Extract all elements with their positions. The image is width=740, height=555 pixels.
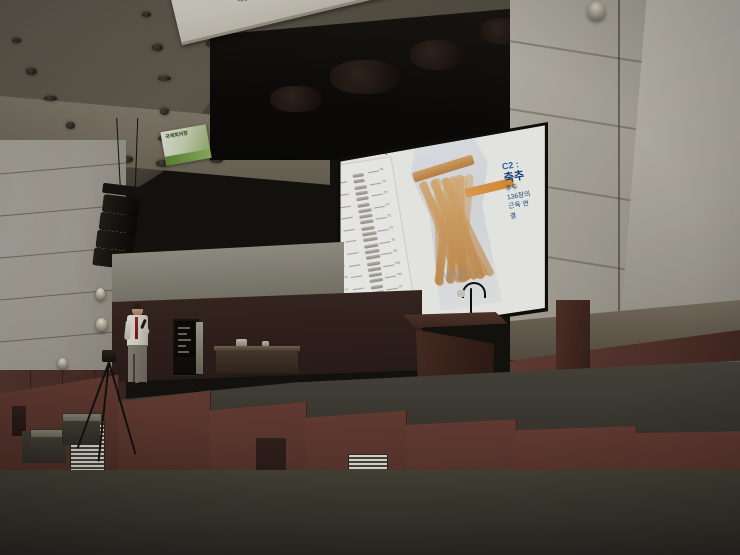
spine-label: C1 xyxy=(380,167,384,171)
vertebra xyxy=(367,260,381,266)
spine-label: C4 xyxy=(332,194,334,198)
ceiling-spot-light xyxy=(588,2,605,20)
downlight xyxy=(142,12,151,17)
ceiling-rigging xyxy=(330,60,400,94)
vertebra xyxy=(353,179,365,184)
vertebra xyxy=(361,225,375,231)
vertebra xyxy=(359,214,373,219)
downlight xyxy=(158,76,171,81)
spine-label: T2 xyxy=(387,214,391,218)
spine-label: T12 xyxy=(397,273,402,277)
ceiling-rigging xyxy=(270,86,322,112)
spine-label: T10 xyxy=(395,261,400,265)
vertebra xyxy=(352,173,364,178)
spine-label: L2 xyxy=(399,285,403,289)
equipment-rack-side xyxy=(196,322,203,374)
downlight xyxy=(44,96,57,101)
vertebra xyxy=(363,237,378,243)
vertebra xyxy=(364,243,379,249)
vertebra xyxy=(355,190,367,195)
vertebra xyxy=(366,254,380,260)
presenter-tie xyxy=(135,317,138,339)
vertebra xyxy=(368,266,382,271)
vertebra xyxy=(370,278,383,283)
spine-label: C6 xyxy=(332,205,336,209)
right-wall-angled-face xyxy=(620,0,740,330)
vertebra xyxy=(358,208,371,213)
spine-label: L1 xyxy=(345,287,349,291)
gooseneck-microphone xyxy=(456,282,486,316)
camera-tripod xyxy=(88,358,128,468)
wall-sconce-light xyxy=(96,318,107,331)
audience-floor xyxy=(0,470,740,555)
vertebra xyxy=(360,219,374,224)
exit-sign-label: 국제회의장 xyxy=(165,131,189,141)
presenter-shoe xyxy=(138,382,147,386)
spine-label: C7 xyxy=(385,203,389,207)
ceiling-rigging xyxy=(410,40,464,70)
vertebra xyxy=(357,202,370,207)
spine-label: C3 xyxy=(382,179,386,183)
presenter-trousers xyxy=(128,345,147,383)
downlight xyxy=(66,122,75,129)
vertebra xyxy=(365,249,380,255)
wall-sconce-light xyxy=(58,358,67,369)
vertebra xyxy=(362,231,376,237)
slide-callout: C2 : 축추 후두 136장의 근육 연 결 xyxy=(501,156,548,222)
spine-label: T1 xyxy=(333,217,337,221)
side-table xyxy=(214,346,300,380)
downlight xyxy=(160,108,169,115)
downlight xyxy=(26,68,37,75)
spine-label: T8 xyxy=(393,249,397,253)
vertebra xyxy=(370,284,383,289)
presenter-shoe xyxy=(127,382,136,386)
vertebra xyxy=(354,185,366,190)
spine-label: C5 xyxy=(384,191,388,195)
spine-label: T6 xyxy=(391,238,395,242)
podium-top xyxy=(404,312,508,328)
spine-label: T4 xyxy=(389,226,393,230)
presenter xyxy=(124,304,154,388)
downlight xyxy=(152,44,163,51)
wall-sconce-light xyxy=(96,288,105,300)
vertebra xyxy=(356,196,369,201)
vertebra xyxy=(369,272,383,277)
auditorium-scene: 대한악안면교정학회(KAO) 1층 국제회의장 주최: 대한턱관절균형의학회 스… xyxy=(0,0,740,555)
downlight xyxy=(12,38,21,43)
